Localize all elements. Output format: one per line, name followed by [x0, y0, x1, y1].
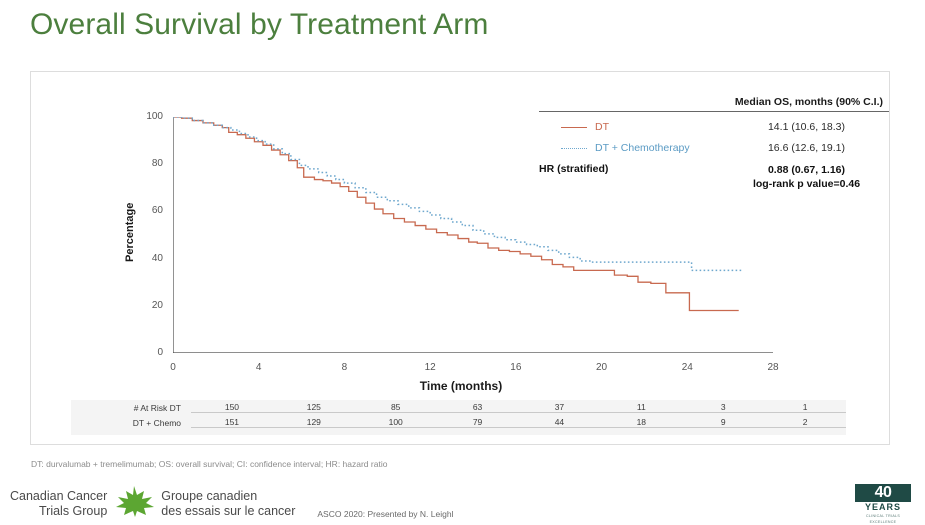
y-tick-label: 80 [133, 158, 163, 169]
y-tick-label: 0 [133, 347, 163, 358]
at-risk-value: 2 [764, 417, 846, 427]
at-risk-value: 44 [519, 417, 601, 427]
at-risk-label-dt-chemo: DT + Chemo [71, 418, 191, 428]
logo-fr-line1: Groupe canadien [161, 489, 295, 503]
x-tick-label: 4 [244, 362, 274, 373]
page-title: Overall Survival by Treatment Arm [30, 8, 488, 42]
logo-en-line2: Trials Group [10, 504, 107, 518]
at-risk-value: 18 [600, 417, 682, 427]
chart-panel: Median OS, months (90% C.I.) DT 14.1 (10… [30, 71, 890, 445]
at-risk-value: 1 [764, 402, 846, 412]
badge-years-label: YEARS [855, 502, 911, 513]
at-risk-row-dt-chemo: DT + Chemo 15112910079441892 [71, 415, 846, 430]
series-layer [173, 117, 743, 311]
at-risk-table: # At Risk DT 1501258563371131 DT + Chemo… [71, 400, 846, 435]
x-tick-label: 20 [587, 362, 617, 373]
at-risk-cells-dt: 1501258563371131 [191, 402, 846, 413]
x-tick-label: 8 [329, 362, 359, 373]
survival-curve-dt [173, 117, 739, 311]
at-risk-value: 63 [437, 402, 519, 412]
survival-plot [173, 117, 773, 353]
kaplan-meier-curves [173, 117, 773, 353]
logo-text-english: Canadian Cancer Trials Group [10, 489, 107, 518]
at-risk-cells-dt-chemo: 15112910079441892 [191, 417, 846, 428]
badge-number: 40 [855, 484, 911, 502]
footnote-abbreviations: DT: durvalumab + tremelimumab; OS: overa… [31, 459, 387, 469]
x-tick-label: 16 [501, 362, 531, 373]
at-risk-value: 129 [273, 417, 355, 427]
y-tick-label: 100 [133, 111, 163, 122]
x-tick-label: 12 [415, 362, 445, 373]
at-risk-value: 125 [273, 402, 355, 412]
maple-leaf-icon [113, 484, 155, 523]
x-tick-label: 24 [672, 362, 702, 373]
at-risk-value: 3 [682, 402, 764, 412]
x-tick-label: 28 [758, 362, 788, 373]
at-risk-row-dt: # At Risk DT 1501258563371131 [71, 400, 846, 415]
y-tick-label: 20 [133, 300, 163, 311]
logo-text-french: Groupe canadien des essais sur le cancer [161, 489, 295, 518]
x-axis-title: Time (months) [31, 379, 891, 393]
y-tick-label: 60 [133, 205, 163, 216]
at-risk-value: 37 [519, 402, 601, 412]
y-tick-label: 40 [133, 253, 163, 264]
logo-en-line1: Canadian Cancer [10, 489, 107, 503]
at-risk-value: 150 [191, 402, 273, 412]
at-risk-value: 85 [355, 402, 437, 412]
at-risk-value: 11 [600, 402, 682, 412]
at-risk-value: 79 [437, 417, 519, 427]
stats-table-header: Median OS, months (90% C.I.) [539, 96, 889, 111]
at-risk-value: 100 [355, 417, 437, 427]
survival-curve-dt-chemotherapy [173, 117, 743, 270]
at-risk-value: 151 [191, 417, 273, 427]
x-tick-label: 0 [158, 362, 188, 373]
organization-logo: Canadian Cancer Trials Group Groupe cana… [10, 484, 453, 523]
presenter-note: ASCO 2020: Presented by N. Leighl [317, 509, 453, 523]
at-risk-value: 9 [682, 417, 764, 427]
stats-table-divider [539, 111, 889, 112]
anniversary-badge: 40 YEARS CLINICAL TRIALS EXCELLENCE [855, 484, 911, 525]
badge-subtitle: CLINICAL TRIALS EXCELLENCE [855, 513, 911, 525]
at-risk-label-dt: # At Risk DT [71, 403, 191, 413]
logo-fr-line2: des essais sur le cancer [161, 504, 295, 518]
